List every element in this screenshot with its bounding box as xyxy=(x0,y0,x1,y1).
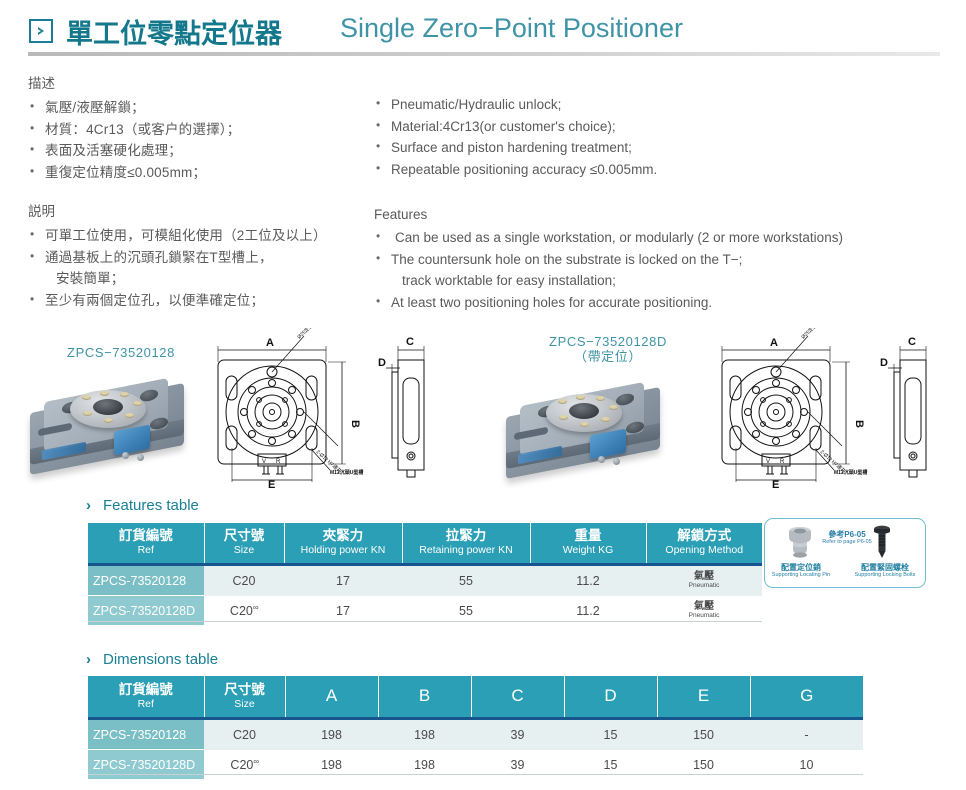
cell-d: 15 xyxy=(564,719,657,750)
cell-g: 10 xyxy=(750,750,863,780)
list-item: 表面及活塞硬化處理； xyxy=(28,140,378,162)
dimensions-table: 訂貨編號 Ref 尺寸號 Size A B C D E G ZPCS-73520… xyxy=(88,676,863,780)
col-header-ref: 訂貨編號 Ref xyxy=(88,523,204,565)
cell-holding-power: 17 xyxy=(284,565,402,596)
svg-text:B: B xyxy=(349,420,361,428)
dimensions-table-heading: Dimensions table xyxy=(103,651,218,668)
list-item: 通過基板上的沉頭孔鎖緊在T型槽上， xyxy=(28,247,388,269)
col-header-c: C xyxy=(471,676,564,719)
svg-text:Ø25定位孔: Ø25定位孔 xyxy=(296,328,319,340)
page-title-en: Single Zero−Point Positioner xyxy=(340,13,683,44)
svg-text:Ø25定位孔: Ø25定位孔 xyxy=(800,328,823,340)
product-label-right-line2: （帶定位） xyxy=(574,349,642,364)
render-pin xyxy=(580,422,589,427)
features-en-list: Can be used as a single workstation, or … xyxy=(374,227,964,313)
render-pin xyxy=(82,395,91,400)
col-header-retaining-power: 拉緊力 Retaining power KN xyxy=(402,523,530,565)
col-header-opening-method: 解鎖方式 Opening Method xyxy=(646,523,762,565)
cell-c: 39 xyxy=(471,750,564,780)
render-pin xyxy=(596,396,605,401)
figures-area: ZPCS−73520128 xyxy=(0,320,966,495)
features-table-bottom-rule xyxy=(88,621,762,622)
svg-text:D: D xyxy=(880,357,888,369)
render-pin xyxy=(559,415,568,420)
product-label-right: ZPCS−73520128D （帶定位） xyxy=(528,334,688,364)
cell-weight: 11.2 xyxy=(530,565,646,596)
description-cn-title: 描述 xyxy=(28,72,378,92)
render-pin xyxy=(601,417,610,422)
svg-text:C: C xyxy=(908,336,916,348)
cell-b: 198 xyxy=(378,750,471,780)
render-port xyxy=(613,458,620,465)
list-item: 材質：4Cr13（或客户的選擇）； xyxy=(28,119,378,141)
list-item: 至少有兩個定位孔，以便準確定位； xyxy=(28,290,388,312)
explanation-cn-list: 可單工位使用，可模組化使用（2工位及以上） 通過基板上的沉頭孔鎖緊在T型槽上， … xyxy=(28,225,388,311)
svg-text:R: R xyxy=(780,459,785,465)
tech-drawing-side-left: C D xyxy=(366,328,456,478)
render-pin xyxy=(133,401,142,406)
render-pin xyxy=(83,411,92,416)
cell-retaining-power: 55 xyxy=(402,565,530,596)
description-cn-block: 描述 氣壓/液壓解鎖； 材質：4Cr13（或客户的選擇）； 表面及活塞硬化處理；… xyxy=(28,72,378,183)
col-header-d: D xyxy=(564,676,657,719)
table-header-row: 訂貨編號 Ref 尺寸號 Size 夾緊力 Holding power KN 拉… xyxy=(88,523,762,565)
cell-g: - xyxy=(750,719,863,750)
locating-pin-icon xyxy=(785,526,815,558)
list-item: Material:4Cr13(or customer's choice); xyxy=(374,116,954,138)
page-title-cn: 單工位零點定位器 xyxy=(66,12,282,51)
render-pin xyxy=(558,399,567,404)
render-pin xyxy=(104,418,113,423)
svg-text:E: E xyxy=(268,479,275,488)
svg-text:M12沉頭U型槽: M12沉頭U型槽 xyxy=(834,469,867,476)
product-label-left: ZPCS−73520128 xyxy=(56,345,186,360)
tech-drawing-side-right: C D xyxy=(868,328,958,478)
col-header-b: B xyxy=(378,676,471,719)
render-pin xyxy=(100,391,109,396)
cell-c: 39 xyxy=(471,719,564,750)
render-disc-center xyxy=(93,399,123,415)
col-header-a: A xyxy=(285,676,378,719)
features-en-block: Features Can be used as a single worksta… xyxy=(374,207,964,313)
features-en-title: Features xyxy=(374,207,964,222)
render-pin xyxy=(120,392,129,397)
list-item-continuation: 安裝簡單； xyxy=(28,268,388,290)
list-item: Can be used as a single workstation, or … xyxy=(374,227,964,249)
features-table: 訂貨編號 Ref 尺寸號 Size 夾緊力 Holding power KN 拉… xyxy=(88,523,762,626)
svg-text:D: D xyxy=(378,357,386,369)
features-table-arrow-icon: › xyxy=(86,497,91,514)
table-header-row: 訂貨編號 Ref 尺寸號 Size A B C D E G xyxy=(88,676,863,719)
locking-bolt-icon xyxy=(873,525,891,559)
col-header-holding-power: 夾緊力 Holding power KN xyxy=(284,523,402,565)
svg-text:A: A xyxy=(770,337,778,349)
cell-a: 198 xyxy=(285,750,378,780)
arrow-right-boxed-icon xyxy=(29,19,53,43)
list-item: The countersunk hole on the substrate is… xyxy=(374,249,964,271)
svg-text:M12沉頭U型槽: M12沉頭U型槽 xyxy=(330,469,363,476)
render-port xyxy=(598,456,605,463)
cell-ref: ZPCS-73520128 xyxy=(88,719,204,750)
legend-caption-bolt: 配置緊固螺栓 Supporting Locking Bolts xyxy=(847,563,923,579)
svg-text:E: E xyxy=(772,479,779,488)
product-render-right xyxy=(506,372,666,472)
svg-text:V: V xyxy=(262,459,266,465)
col-header-g: G xyxy=(750,676,863,719)
list-item: 可單工位使用，可模組化使用（2工位及以上） xyxy=(28,225,388,247)
cell-b: 198 xyxy=(378,719,471,750)
table-row: ZPCS-73520128 C20 198 198 39 15 150 - xyxy=(88,719,863,750)
list-item: 重復定位精度≤0.005mm； xyxy=(28,162,378,184)
cell-size: C20 xyxy=(204,719,285,750)
list-item: Surface and piston hardening treatment; xyxy=(374,137,954,159)
svg-text:V: V xyxy=(766,459,770,465)
list-item-continuation: track worktable for easy installation; xyxy=(374,270,964,292)
cell-opening-method: 氣壓 Pneumatic xyxy=(646,565,762,596)
explanation-cn-title: 説明 xyxy=(28,200,388,220)
col-header-weight: 重量 Weight KG xyxy=(530,523,646,565)
legend-caption-pin: 配置定位銷 Supporting Locating Pin xyxy=(763,563,839,579)
render-pin xyxy=(125,413,134,418)
list-item: 氣壓/液壓解鎖； xyxy=(28,97,378,119)
header-divider xyxy=(28,52,940,56)
col-header-size: 尺寸號 Size xyxy=(204,523,284,565)
render-port xyxy=(137,454,144,461)
table-row: ZPCS-73520128D C20∞ 198 198 39 15 150 10 xyxy=(88,750,863,780)
svg-text:R: R xyxy=(276,459,281,465)
svg-text:C: C xyxy=(406,336,414,348)
cell-size: C20∞ xyxy=(204,750,285,780)
list-item: Pneumatic/Hydraulic unlock; xyxy=(374,94,954,116)
list-item: Repeatable positioning accuracy ≤0.005mm… xyxy=(374,159,954,181)
render-pin xyxy=(576,395,585,400)
page-header: 單工位零點定位器 Single Zero−Point Positioner xyxy=(0,0,966,60)
cell-ref: ZPCS-73520128D xyxy=(88,750,204,780)
cell-e: 150 xyxy=(657,719,750,750)
description-en-block: Pneumatic/Hydraulic unlock; Material:4Cr… xyxy=(374,94,954,180)
cell-e: 150 xyxy=(657,750,750,780)
description-en-list: Pneumatic/Hydraulic unlock; Material:4Cr… xyxy=(374,94,954,180)
cell-size: C20 xyxy=(204,565,284,596)
product-label-right-line1: ZPCS−73520128D xyxy=(549,334,667,349)
render-pin xyxy=(609,405,618,410)
list-item: At least two positioning holes for accur… xyxy=(374,292,964,314)
tech-drawing-top-left: A B E Ø25定位孔 2-Ø12 H7通孔 M12沉頭U型槽 V R xyxy=(196,328,366,488)
cell-ref: ZPCS-73520128 xyxy=(88,565,204,596)
legend-page-reference: 參考P6-05 Refer to page P6-05 xyxy=(819,530,875,546)
dimensions-table-bottom-rule xyxy=(88,774,863,775)
svg-text:A: A xyxy=(266,337,274,349)
cell-a: 198 xyxy=(285,719,378,750)
col-header-ref: 訂貨編號 Ref xyxy=(88,676,204,719)
render-disc-center xyxy=(569,403,599,419)
svg-text:B: B xyxy=(853,420,865,428)
dimensions-table-arrow-icon: › xyxy=(86,651,91,668)
cell-d: 15 xyxy=(564,750,657,780)
table-row: ZPCS-73520128 C20 17 55 11.2 氣壓 Pneumati… xyxy=(88,565,762,596)
col-header-size: 尺寸號 Size xyxy=(204,676,285,719)
tech-drawing-top-right: A B E Ø25定位孔 2-Ø12 H7通孔 M12沉頭U型槽 V R xyxy=(700,328,870,488)
render-port xyxy=(122,452,129,459)
product-render-left xyxy=(30,368,190,468)
col-header-e: E xyxy=(657,676,750,719)
explanation-cn-block: 説明 可單工位使用，可模組化使用（2工位及以上） 通過基板上的沉頭孔鎖緊在T型槽… xyxy=(28,200,388,311)
description-cn-list: 氣壓/液壓解鎖； 材質：4Cr13（或客户的選擇）； 表面及活塞硬化處理； 重復… xyxy=(28,97,378,183)
features-table-heading: Features table xyxy=(103,497,199,514)
accessories-legend: 參考P6-05 Refer to page P6-05 配置定位銷 Suppor… xyxy=(764,518,926,588)
